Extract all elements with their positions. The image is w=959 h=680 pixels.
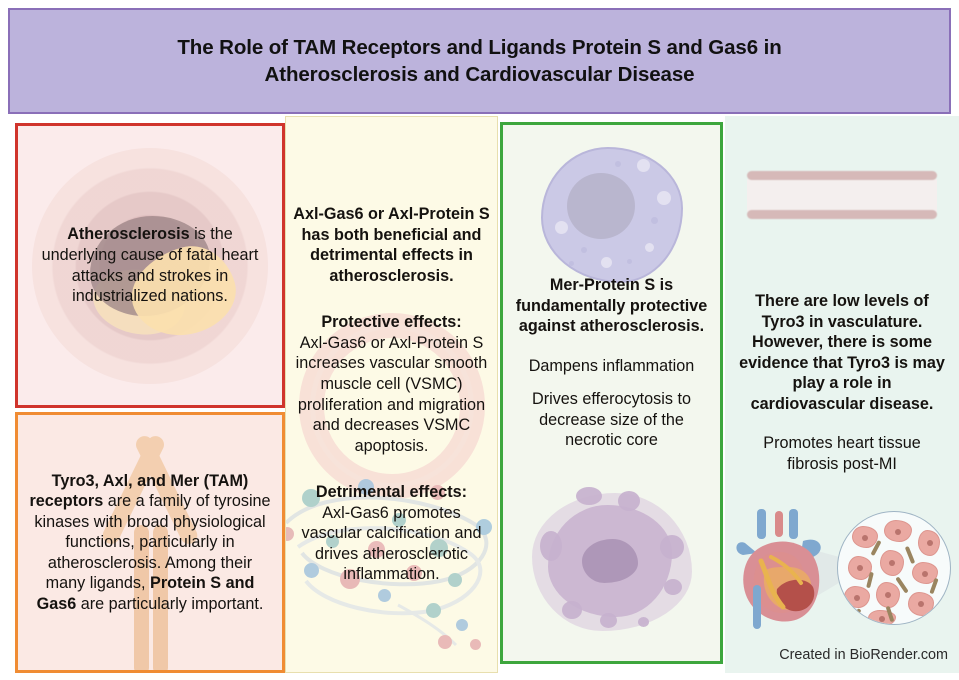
atherosclerosis-statement: Atherosclerosis is the underlying cause …: [28, 224, 272, 306]
mer-heading: Mer-Protein S is fundamentally protectiv…: [513, 275, 710, 337]
tam-receptors-panel: Tyro3, Axl, and Mer (TAM) receptors are …: [15, 412, 285, 673]
protective-effects-label: Protective effects:: [321, 312, 461, 333]
atherosclerosis-panel: Atherosclerosis is the underlying cause …: [15, 123, 285, 408]
tyro3-panel: There are low levels of Tyro3 in vascula…: [725, 116, 959, 673]
page-title: The Role of TAM Receptors and Ligands Pr…: [130, 34, 830, 89]
ligands-tail: are particularly important.: [76, 595, 263, 613]
atherosclerosis-column: Atherosclerosis is the underlying cause …: [8, 116, 285, 680]
detrimental-effects-label: Detrimental effects:: [316, 482, 467, 503]
biorender-credit: Created in BioRender.com: [779, 647, 948, 663]
axl-column: Axl-Gas6 or Axl-Protein S has both benef…: [285, 116, 498, 680]
atherosclerosis-bold-lead: Atherosclerosis: [67, 225, 189, 243]
tyro3-heading: There are low levels of Tyro3 in vascula…: [737, 291, 947, 414]
tam-receptors-statement: Tyro3, Axl, and Mer (TAM) receptors are …: [28, 471, 272, 615]
mer-protein-s-panel: Mer-Protein S is fundamentally protectiv…: [500, 122, 723, 664]
mer-column: Mer-Protein S is fundamentally protectiv…: [498, 116, 725, 680]
tyro3-column: There are low levels of Tyro3 in vascula…: [725, 116, 959, 680]
mer-bullet-inflammation: Dampens inflammation: [529, 356, 695, 377]
axl-heading: Axl-Gas6 or Axl-Protein S has both benef…: [292, 204, 491, 286]
protective-effects-body: Axl-Gas6 or Axl-Protein S increases vasc…: [292, 333, 491, 456]
tyro3-bullet-fibrosis: Promotes heart tissue fibrosis post-MI: [737, 433, 947, 474]
panels-grid: Atherosclerosis is the underlying cause …: [0, 116, 959, 680]
infographic-poster: The Role of TAM Receptors and Ligands Pr…: [0, 0, 959, 680]
axl-effects-panel: Axl-Gas6 or Axl-Protein S has both benef…: [285, 116, 498, 673]
detrimental-effects-body: Axl-Gas6 promotes vascular calcification…: [292, 503, 491, 585]
poster-header: The Role of TAM Receptors and Ligands Pr…: [8, 8, 951, 114]
mer-bullet-efferocytosis: Drives efferocytosis to decrease size of…: [513, 389, 710, 451]
